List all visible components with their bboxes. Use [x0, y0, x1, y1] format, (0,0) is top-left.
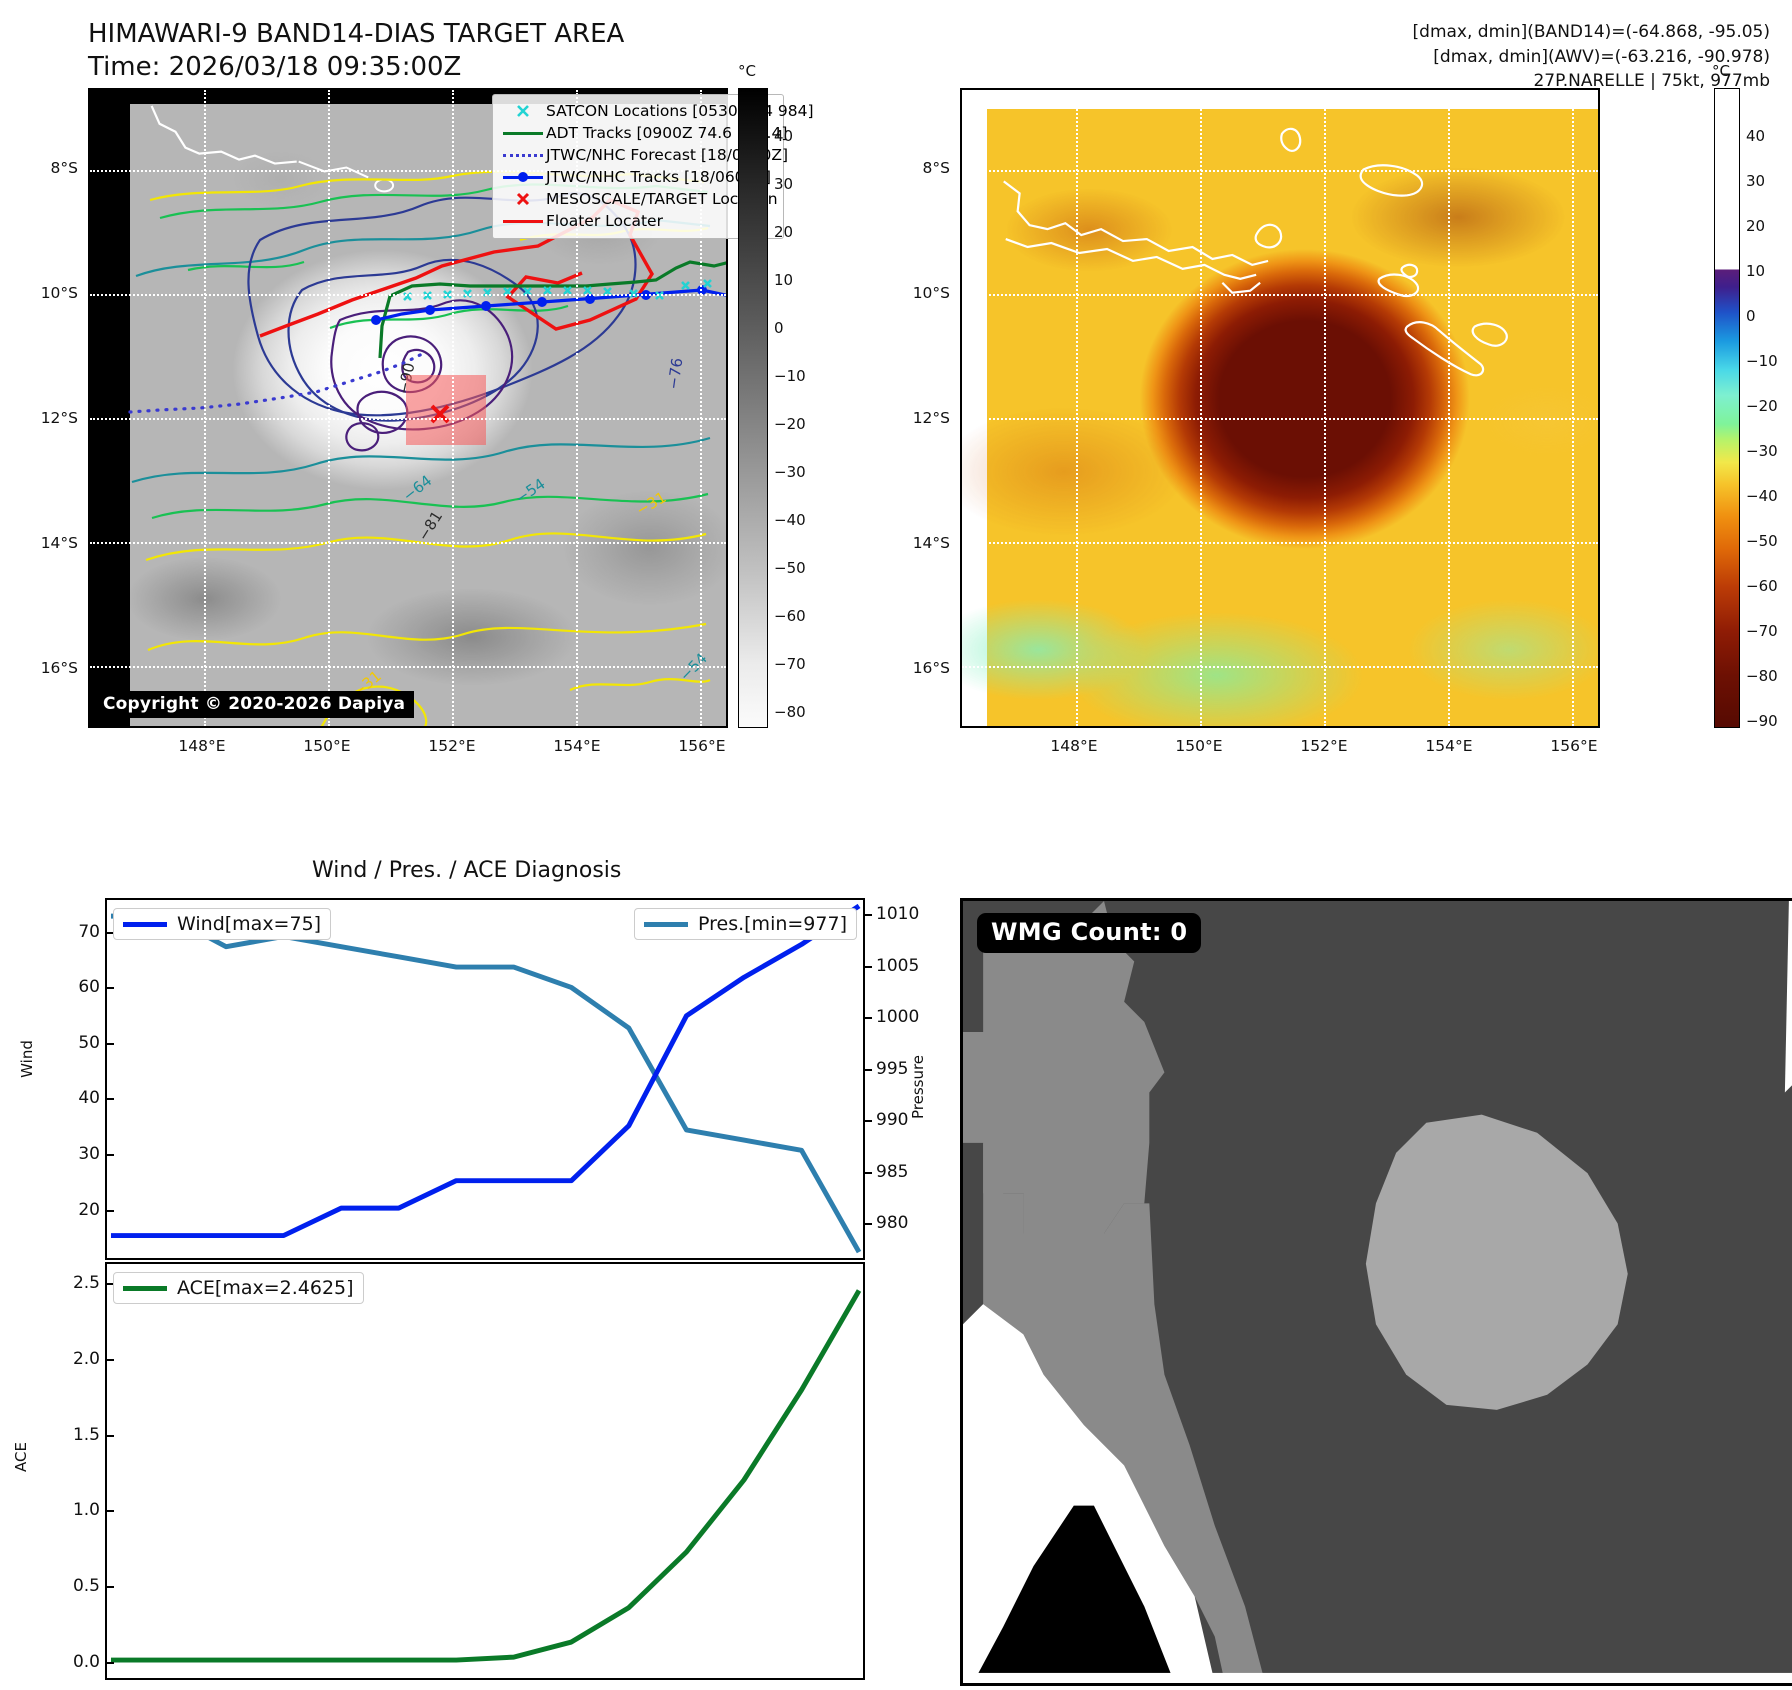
- axis-tick-mark: [863, 1069, 872, 1071]
- colorbar-right-unit: °C: [1712, 62, 1730, 80]
- lon-tick-r-152e: 152°E: [1300, 737, 1347, 755]
- axis-tick-label: 1010: [876, 904, 919, 924]
- ace-line: [111, 1291, 859, 1661]
- wind-axis-label: Wind: [18, 1040, 36, 1078]
- ace-legend-label: ACE[max=2.4625]: [177, 1277, 354, 1299]
- pressure-legend-label: Pres.[min=977]: [698, 913, 847, 935]
- axis-tick-mark: [105, 1435, 114, 1437]
- lon-tick-152e: 152°E: [428, 737, 475, 755]
- top-right-header: [dmax, dmin](BAND14)=(-64.868, -95.05) […: [1413, 20, 1770, 94]
- ace-legend[interactable]: ACE[max=2.4625]: [113, 1272, 364, 1304]
- lat-tick-r-16s: 16°S: [872, 659, 950, 677]
- legend-item-mesoscale[interactable]: MESOSCALE/TARGET Location: [500, 188, 776, 210]
- mesoscale-x-icon: [500, 191, 546, 207]
- lon-tick-r-150e: 150°E: [1175, 737, 1222, 755]
- axis-tick-mark: [863, 914, 872, 916]
- ace-chart[interactable]: ACE[max=2.4625]: [105, 1262, 865, 1680]
- page-title: HIMAWARI-9 BAND14-DIAS TARGET AREA: [88, 18, 788, 51]
- diagnosis-chart-title: Wind / Pres. / ACE Diagnosis: [312, 858, 621, 883]
- mesoscale-target-marker: [432, 406, 448, 422]
- top-left-title: HIMAWARI-9 BAND14-DIAS TARGET AREA Time:…: [88, 18, 788, 85]
- axis-tick-mark: [105, 1043, 114, 1045]
- lat-tick-r-12s: 12°S: [872, 409, 950, 427]
- axis-tick-label: 1.0: [44, 1500, 100, 1520]
- lat-tick-16s: 16°S: [0, 659, 78, 677]
- axis-tick-mark: [863, 1120, 872, 1122]
- axis-tick-label: 995: [876, 1059, 908, 1079]
- ace-legend-swatch: [123, 1286, 167, 1291]
- lon-tick-150e: 150°E: [303, 737, 350, 755]
- colorbar-right: [1714, 88, 1740, 728]
- axis-tick-label: 2.0: [44, 1349, 100, 1369]
- axis-tick-mark: [105, 987, 114, 989]
- pressure-legend-swatch: [644, 922, 688, 927]
- forecast-dotted-icon: [500, 154, 546, 157]
- axis-tick-mark: [105, 1662, 114, 1664]
- wmg-panel[interactable]: WMG Count: 0: [960, 898, 1792, 1686]
- axis-tick-label: 60: [44, 977, 100, 997]
- colorbar-left-unit: °C: [738, 62, 756, 80]
- axis-tick-mark: [105, 1098, 114, 1100]
- colorbar-left-ticks: 40 30 20 10 0 −10 −20 −30 −40 −50 −60 −7…: [774, 88, 834, 728]
- axis-tick-label: 40: [44, 1088, 100, 1108]
- axis-tick-mark: [105, 1359, 114, 1361]
- jtwc-line-dot-icon: [500, 176, 546, 179]
- pressure-legend[interactable]: Pres.[min=977]: [634, 908, 857, 940]
- wind-legend-swatch: [123, 922, 167, 927]
- axis-tick-label: 980: [876, 1213, 908, 1233]
- axis-tick-label: 1000: [876, 1007, 919, 1027]
- wmg-segmentation-map: [963, 901, 1792, 1683]
- lon-tick-156e: 156°E: [678, 737, 725, 755]
- axis-tick-mark: [863, 1223, 872, 1225]
- jtwc-forecast-track: [130, 354, 422, 412]
- lat-tick-r-10s: 10°S: [872, 284, 950, 302]
- axis-tick-label: 50: [44, 1033, 100, 1053]
- axis-tick-label: 0.0: [44, 1652, 100, 1672]
- lat-tick-10s: 10°S: [0, 284, 78, 302]
- legend-item-jtwc-tracks[interactable]: JTWC/NHC Tracks [18/0600Z]: [500, 166, 776, 188]
- colorbar-left: [738, 88, 768, 728]
- satellite-map-right[interactable]: [960, 88, 1600, 728]
- axis-tick-label: 20: [44, 1200, 100, 1220]
- lon-tick-r-148e: 148°E: [1050, 737, 1097, 755]
- axis-tick-mark: [105, 1510, 114, 1512]
- legend-item-forecast[interactable]: JTWC/NHC Forecast [18/0000Z]: [500, 144, 776, 166]
- axis-tick-label: 0.5: [44, 1576, 100, 1596]
- ace-plot-area: [107, 1264, 863, 1678]
- lat-tick-12s: 12°S: [0, 409, 78, 427]
- copyright-badge: Copyright © 2020-2026 Dapiya: [94, 691, 414, 718]
- lat-tick-r-8s: 8°S: [872, 159, 950, 177]
- axis-tick-label: 985: [876, 1162, 908, 1182]
- adt-line-icon: [500, 132, 546, 135]
- ace-axis-label: ACE: [12, 1442, 30, 1472]
- legend-label-floater: Floater Locater: [546, 212, 663, 230]
- legend-item-satcon[interactable]: SATCON Locations [0530Z 64 984]: [500, 100, 776, 122]
- ir-color-imagery: [987, 109, 1598, 726]
- lon-tick-r-154e: 154°E: [1425, 737, 1472, 755]
- axis-tick-label: 1.5: [44, 1425, 100, 1445]
- wind-line: [111, 906, 859, 1236]
- axis-tick-label: 70: [44, 922, 100, 942]
- wmg-count-badge: WMG Count: 0: [977, 913, 1201, 953]
- axis-tick-mark: [863, 1172, 872, 1174]
- observation-time: Time: 2026/03/18 09:35:00Z: [88, 51, 788, 84]
- wind-legend[interactable]: Wind[max=75]: [113, 908, 331, 940]
- band14-minmax-text: [dmax, dmin](BAND14)=(-64.868, -95.05): [1413, 20, 1770, 45]
- lon-tick-148e: 148°E: [178, 737, 225, 755]
- lon-tick-154e: 154°E: [553, 737, 600, 755]
- colorbar-right-ticks: 40 30 20 10 0 −10 −20 −30 −40 −50 −60 −7…: [1746, 88, 1792, 728]
- legend-item-adt[interactable]: ADT Tracks [0900Z 74.6 977.4]: [500, 122, 776, 144]
- wind-pressure-plot-area: [107, 900, 863, 1258]
- axis-tick-mark: [863, 1017, 872, 1019]
- axis-tick-mark: [863, 966, 872, 968]
- wind-pressure-chart[interactable]: Wind[max=75] Pres.[min=977]: [105, 898, 865, 1260]
- lat-tick-r-14s: 14°S: [872, 534, 950, 552]
- lon-tick-r-156e: 156°E: [1550, 737, 1597, 755]
- axis-tick-label: 1005: [876, 956, 919, 976]
- axis-tick-label: 990: [876, 1110, 908, 1130]
- axis-tick-mark: [105, 1154, 114, 1156]
- pressure-axis-label: Pressure: [909, 1055, 927, 1119]
- lat-tick-14s: 14°S: [0, 534, 78, 552]
- wind-legend-label: Wind[max=75]: [177, 913, 321, 935]
- axis-tick-label: 30: [44, 1144, 100, 1164]
- legend-item-floater[interactable]: Floater Locater: [500, 210, 776, 232]
- axis-tick-mark: [105, 1210, 114, 1212]
- axis-tick-label: 2.5: [44, 1273, 100, 1293]
- satcon-x-icon: [500, 103, 546, 119]
- lat-tick-8s: 8°S: [0, 159, 78, 177]
- pressure-line: [111, 916, 859, 1252]
- axis-tick-mark: [105, 1586, 114, 1588]
- floater-line-icon: [500, 220, 546, 223]
